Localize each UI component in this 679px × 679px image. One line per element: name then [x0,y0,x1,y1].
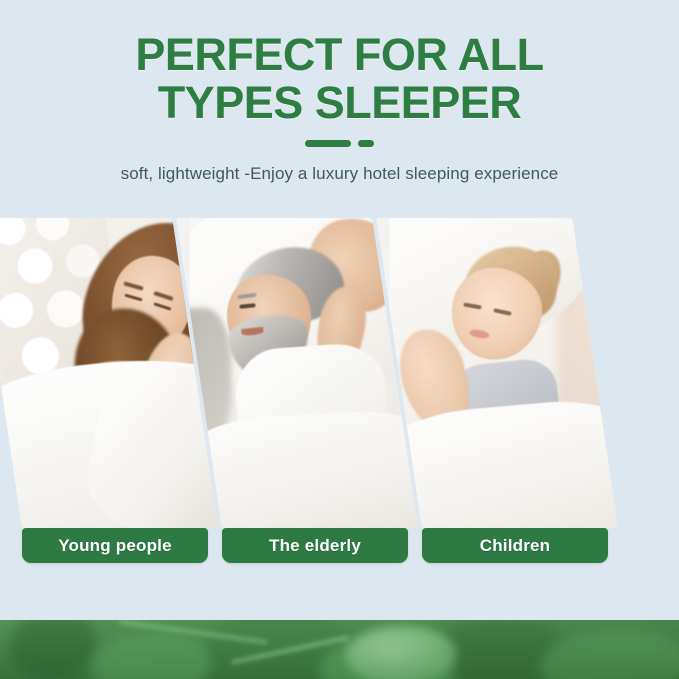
title-line-1: PERFECT FOR ALL [0,31,679,79]
divider-dash-long [305,140,351,147]
card-children: Children [422,218,618,563]
title-line-2: TYPES SLEEPER [0,79,679,127]
poster: PERFECT FOR ALL TYPES SLEEPER soft, ligh… [0,0,679,679]
divider [0,140,679,147]
label-text: The elderly [269,536,361,556]
band-shading-overlay [0,620,679,679]
label-bar-children[interactable]: Children [422,528,608,563]
scene-child-sleeping [389,218,618,528]
bottom-foliage-band [0,620,679,679]
label-bar-the-elderly[interactable]: The elderly [222,528,408,563]
label-bar-young-people[interactable]: Young people [22,528,208,563]
page-title: PERFECT FOR ALL TYPES SLEEPER [0,0,679,127]
header: PERFECT FOR ALL TYPES SLEEPER soft, ligh… [0,0,679,210]
photo-children [389,218,618,528]
sleeper-type-cards: Young people [0,218,679,563]
label-text: Children [480,536,551,556]
label-text: Young people [58,536,172,556]
subtitle: soft, lightweight -Enjoy a luxury hotel … [0,147,679,184]
divider-dash-short [358,140,374,147]
